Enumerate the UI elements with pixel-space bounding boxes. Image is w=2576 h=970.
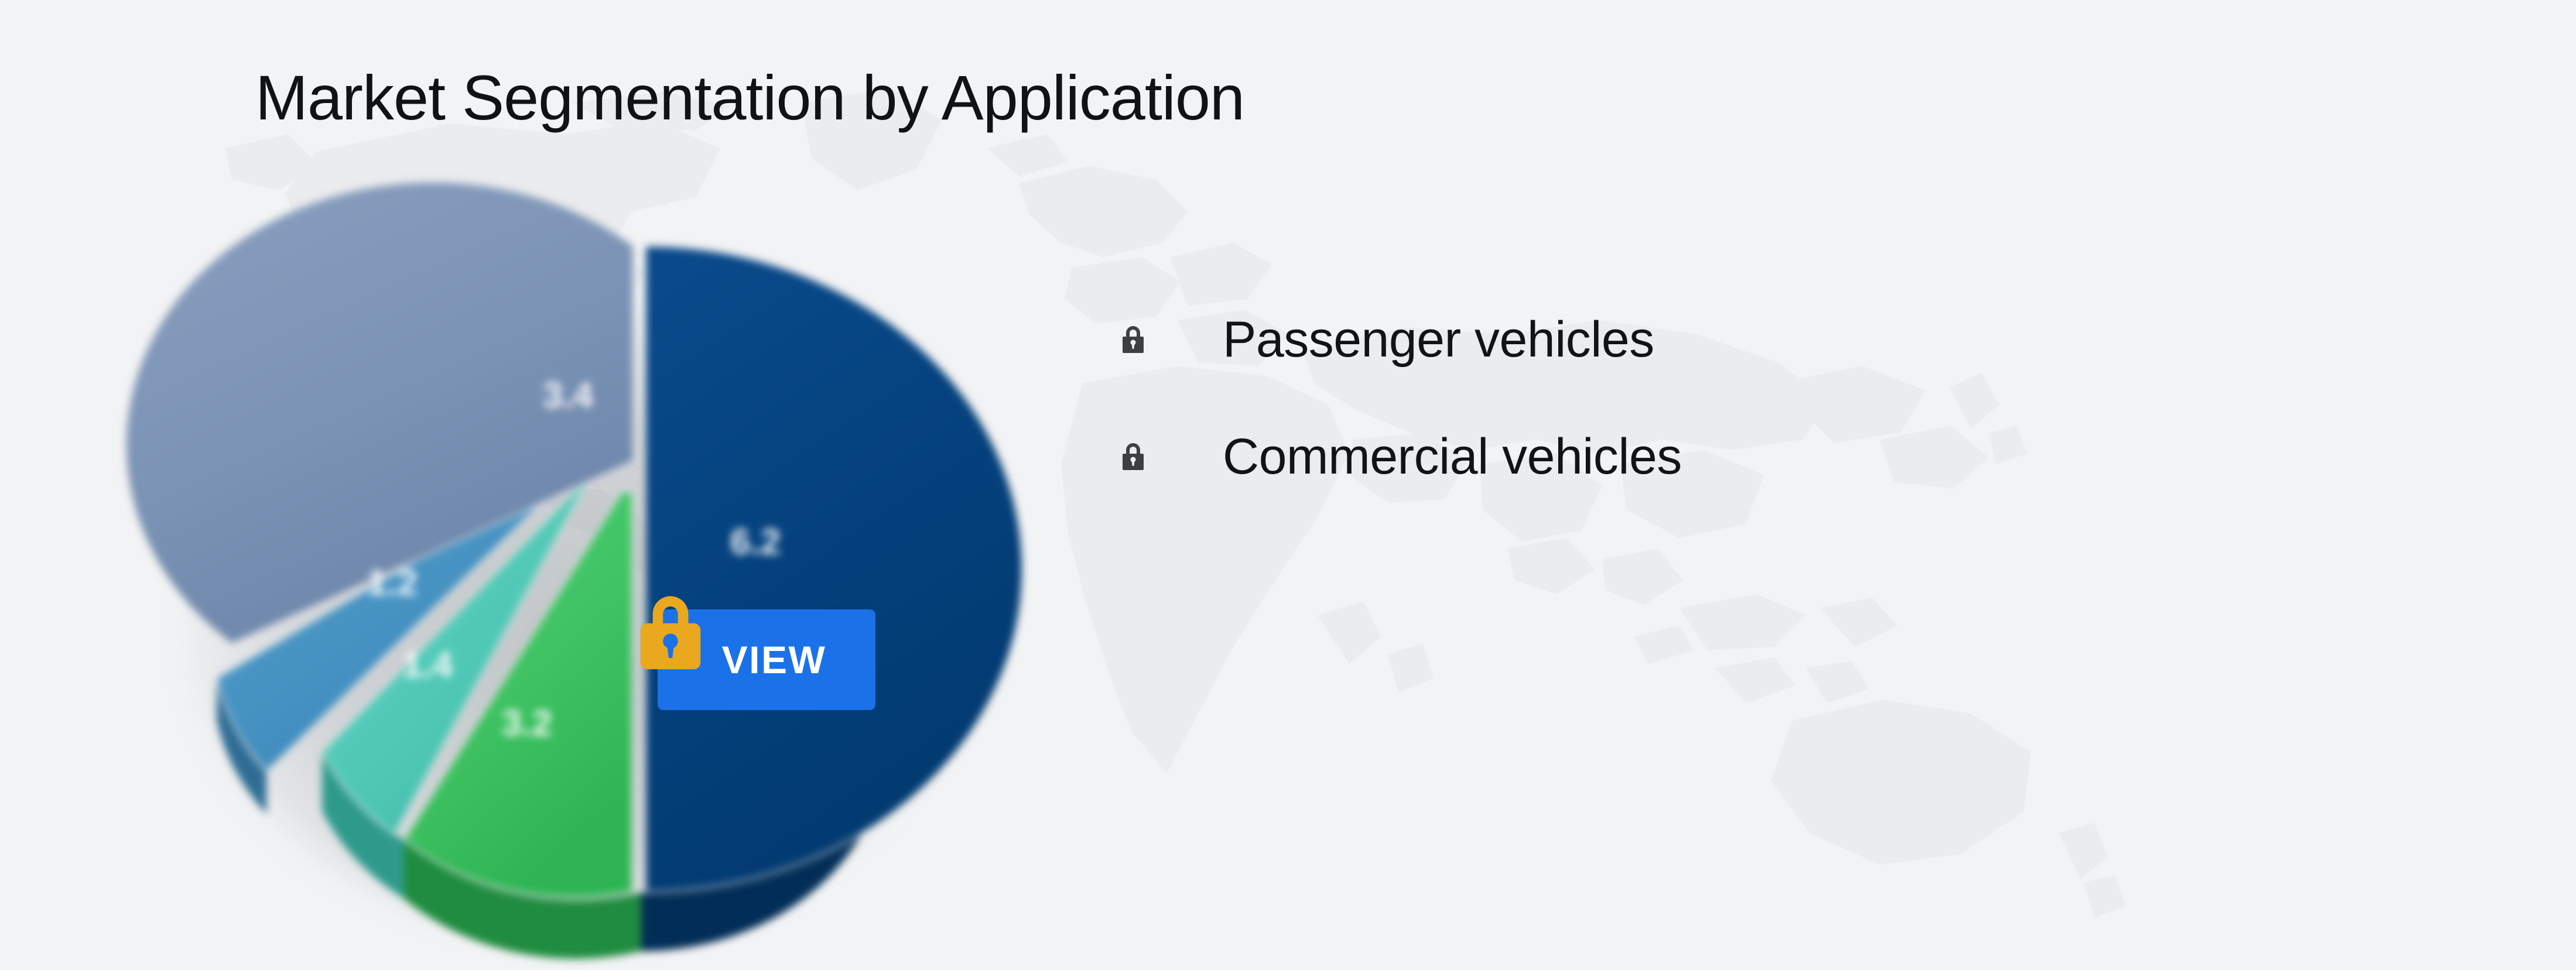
slice-label-2: 3.2 bbox=[502, 703, 552, 743]
locked-content-overlay[interactable]: VIEW bbox=[624, 583, 875, 718]
legend-item-passenger-vehicles[interactable]: Passenger vehicles bbox=[1120, 281, 1998, 398]
slice-label-3: 1.4 bbox=[402, 645, 453, 685]
lock-icon bbox=[1120, 324, 1147, 355]
legend-item-label: Passenger vehicles bbox=[1223, 314, 1654, 365]
lock-icon bbox=[624, 583, 717, 677]
slide-canvas: Market Segmentation by Application bbox=[0, 0, 2576, 970]
page-title: Market Segmentation by Application bbox=[255, 63, 1244, 133]
slice-label-5: 3.4 bbox=[543, 375, 594, 416]
slice-label-4: 1.2 bbox=[367, 563, 418, 603]
legend-item-label: Commercial vehicles bbox=[1223, 431, 1682, 482]
legend-item-commercial-vehicles[interactable]: Commercial vehicles bbox=[1120, 398, 1998, 515]
pie-chart: 6.2 3.2 1.4 1.2 3.4 VIEW bbox=[146, 164, 1036, 948]
pie-slice-1 bbox=[645, 246, 1022, 892]
view-button-label: VIEW bbox=[707, 640, 827, 679]
pie-graphic: 6.2 3.2 1.4 1.2 3.4 bbox=[146, 164, 1036, 948]
legend: Passenger vehicles Commercial vehicles bbox=[1120, 281, 1998, 515]
slice-label-1: 6.2 bbox=[730, 522, 781, 562]
lock-icon bbox=[1120, 441, 1147, 472]
